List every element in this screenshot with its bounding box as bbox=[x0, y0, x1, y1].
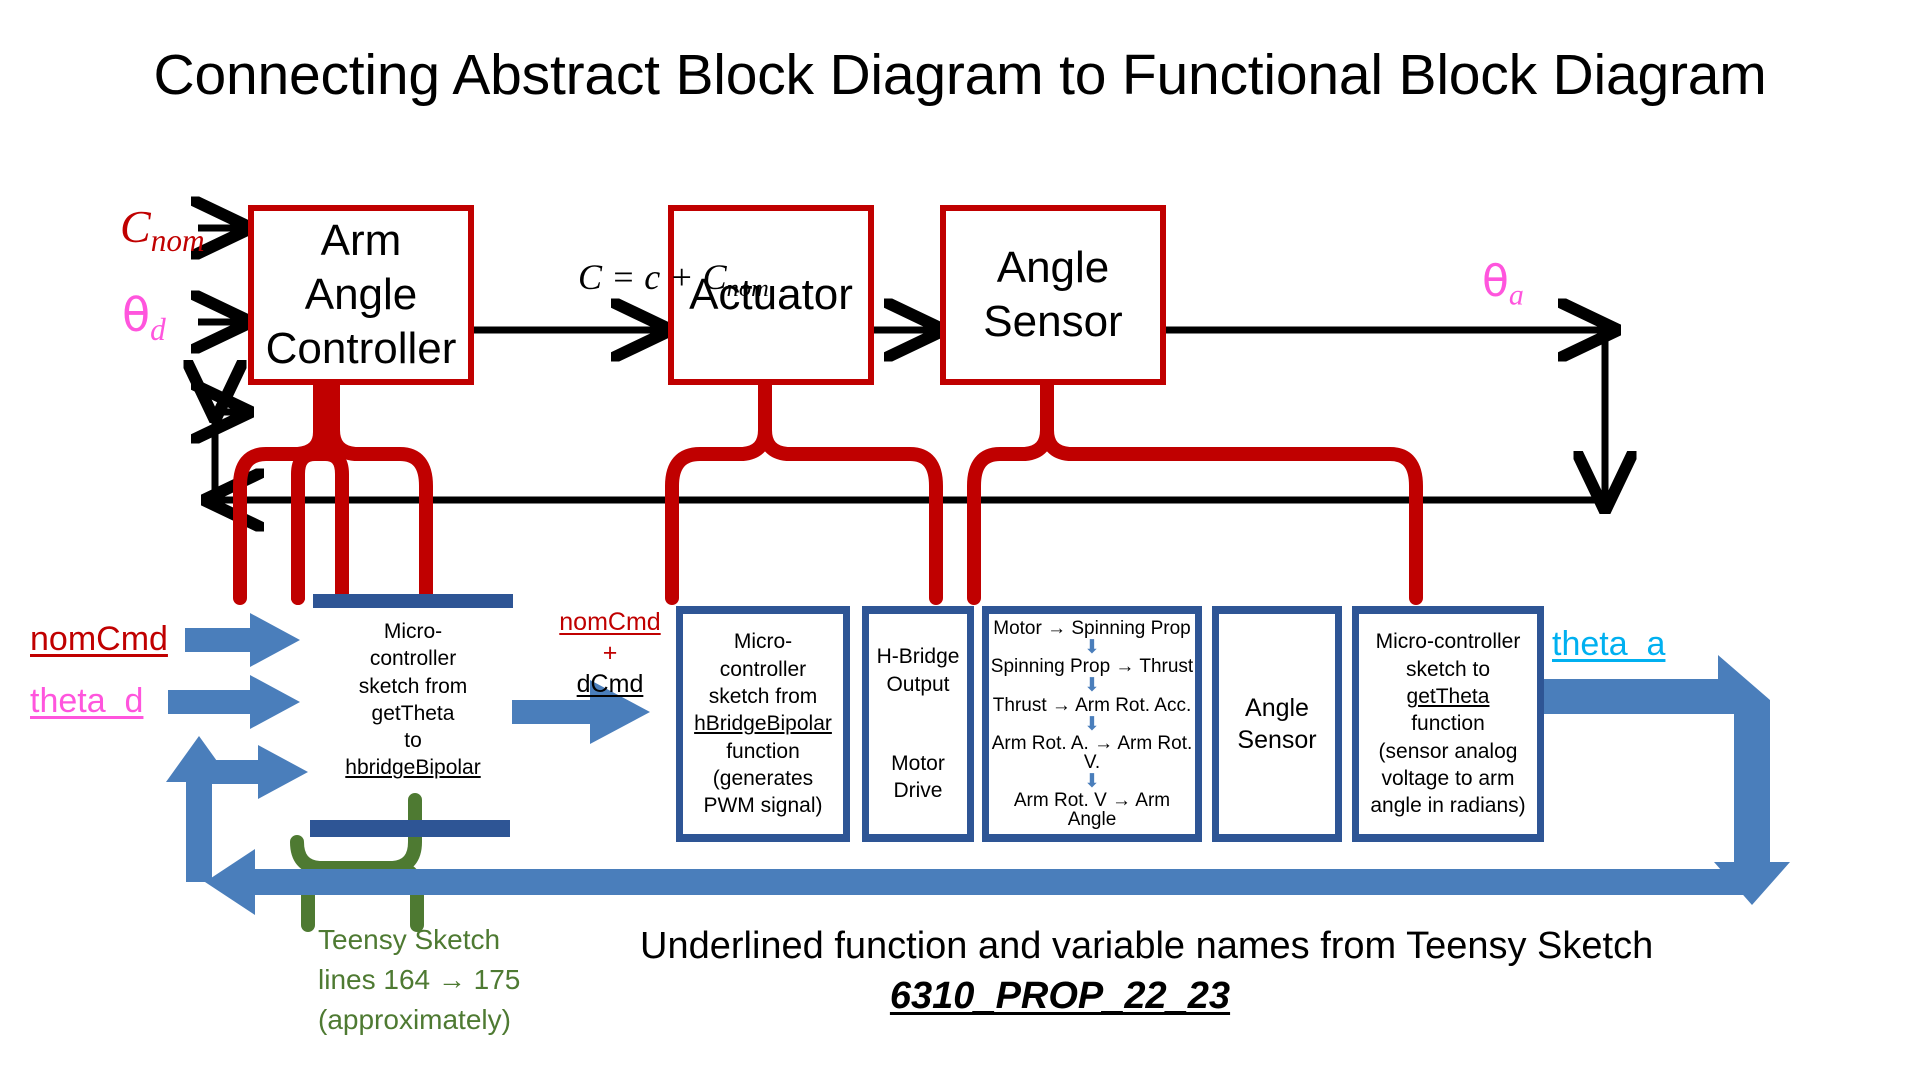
block-line: (sensor analog bbox=[1370, 738, 1525, 765]
down-arrow-icon: ⬇ bbox=[1084, 677, 1100, 694]
mid-signal-label: nomCmd + dCmd bbox=[520, 608, 700, 698]
signal-label-c-nom: Cnom bbox=[120, 200, 205, 259]
block-line: H-Bridge bbox=[877, 643, 960, 670]
block-line: Angle bbox=[1237, 692, 1316, 725]
chain-step: Thrust → Arm Rot. Acc. bbox=[993, 696, 1192, 715]
block-line: sketch to bbox=[1370, 656, 1525, 683]
abstract-block-label: Angle Sensor bbox=[983, 243, 1122, 346]
block-line: Motor bbox=[877, 750, 960, 777]
block-line: Output bbox=[877, 671, 960, 698]
red-brace-1 bbox=[240, 375, 426, 598]
down-arrow-icon: ⬇ bbox=[1084, 639, 1100, 656]
functional-block-physics-chain[interactable]: Motor → Spinning Prop ⬇ Spinning Prop → … bbox=[982, 606, 1202, 842]
red-brace-controller bbox=[298, 378, 342, 598]
block-line: Sensor bbox=[1237, 724, 1316, 757]
chain-step: Arm Rot. A. → Arm Rot. V. bbox=[989, 734, 1195, 772]
block-line: getTheta bbox=[308, 700, 518, 727]
block-line: Micro-controller bbox=[1370, 628, 1525, 655]
signal-label-theta-d: θd bbox=[122, 288, 166, 348]
theta-a-sub: a bbox=[1509, 278, 1524, 311]
block-line: sketch from bbox=[694, 683, 832, 710]
abstract-block-angle-sensor[interactable]: Angle Sensor bbox=[940, 205, 1166, 385]
functional-block-microcontroller-to-hbridge-topbar bbox=[313, 594, 513, 608]
red-brace-sensor bbox=[974, 375, 1416, 598]
green-brace-teensy bbox=[297, 800, 417, 925]
functional-block-gettheta[interactable]: Micro-controller sketch to getTheta func… bbox=[1352, 606, 1544, 842]
chain-step: Motor → Spinning Prop bbox=[993, 619, 1191, 638]
functional-output-label-theta-a: theta_a bbox=[1552, 625, 1665, 664]
chain-step: Arm Rot. V → Arm Angle bbox=[989, 791, 1195, 829]
c-nom-sub: nom bbox=[151, 223, 205, 258]
block-line: PWM signal) bbox=[694, 792, 832, 819]
mid-signal-nomCmd: nomCmd bbox=[520, 608, 700, 637]
theta-a-base: θ bbox=[1482, 256, 1509, 307]
block-line-underlined: hBridgeBipolar bbox=[694, 712, 832, 735]
signal-label-theta-a: θa bbox=[1482, 256, 1524, 312]
page-title: Connecting Abstract Block Diagram to Fun… bbox=[0, 42, 1920, 108]
mid-signal-dCmd: dCmd bbox=[520, 670, 700, 699]
theta-d-base: θ bbox=[122, 288, 150, 342]
functional-block-hbridge-output[interactable]: H-Bridge Output Motor Drive bbox=[862, 606, 974, 842]
functional-block-microcontroller-to-hbridge-bottombar bbox=[310, 820, 510, 837]
red-brace-actuator bbox=[672, 375, 936, 598]
teensy-sketch-note: Teensy Sketch lines 164 → 175 (approxima… bbox=[318, 920, 598, 1040]
mid-signal-plus: + bbox=[520, 639, 700, 668]
c-nom-base: C bbox=[120, 201, 151, 252]
chain-step: Spinning Prop → Thrust bbox=[991, 657, 1193, 676]
connector-layer bbox=[0, 0, 1920, 1080]
theta-d-sub: d bbox=[150, 312, 166, 347]
functional-input-label-theta-d: theta_d bbox=[30, 682, 143, 721]
signal-label-controller-output: C = c + Cnom bbox=[578, 256, 769, 303]
functional-input-label-nomCmd: nomCmd bbox=[30, 620, 168, 659]
block-line: voltage to arm bbox=[1370, 765, 1525, 792]
down-arrow-icon: ⬇ bbox=[1084, 773, 1100, 790]
block-line: Micro- bbox=[694, 628, 832, 655]
functional-block-angle-sensor[interactable]: Angle Sensor bbox=[1212, 606, 1342, 842]
abstract-block-arm-angle-controller[interactable]: Arm Angle Controller bbox=[248, 205, 474, 385]
functional-block-hbridgebipolar[interactable]: Micro- controller sketch from hBridgeBip… bbox=[676, 606, 850, 842]
block-line: controller bbox=[308, 645, 518, 672]
block-line: function bbox=[694, 738, 832, 765]
block-line: (generates bbox=[694, 765, 832, 792]
block-line: controller bbox=[694, 656, 832, 683]
block-line: function bbox=[1370, 710, 1525, 737]
block-line: angle in radians) bbox=[1370, 792, 1525, 819]
footer-note-line1: Underlined function and variable names f… bbox=[640, 925, 1890, 968]
down-arrow-icon: ⬇ bbox=[1084, 716, 1100, 733]
controller-output-base: C = c + C bbox=[578, 257, 727, 297]
block-line: Micro- bbox=[308, 618, 518, 645]
abstract-block-label: Arm Angle Controller bbox=[266, 216, 457, 372]
block-line-underlined: getTheta bbox=[1407, 685, 1490, 708]
controller-output-sub: nom bbox=[727, 275, 769, 302]
block-line: sketch from bbox=[308, 673, 518, 700]
block-line-underlined: hbridgeBipolar bbox=[345, 756, 480, 779]
footer-note-line2: 6310_PROP_22_23 bbox=[640, 975, 1480, 1018]
block-line: Drive bbox=[877, 777, 960, 804]
functional-block-microcontroller-to-hbridge[interactable]: Micro- controller sketch from getTheta t… bbox=[308, 618, 518, 782]
block-line: to bbox=[308, 727, 518, 754]
